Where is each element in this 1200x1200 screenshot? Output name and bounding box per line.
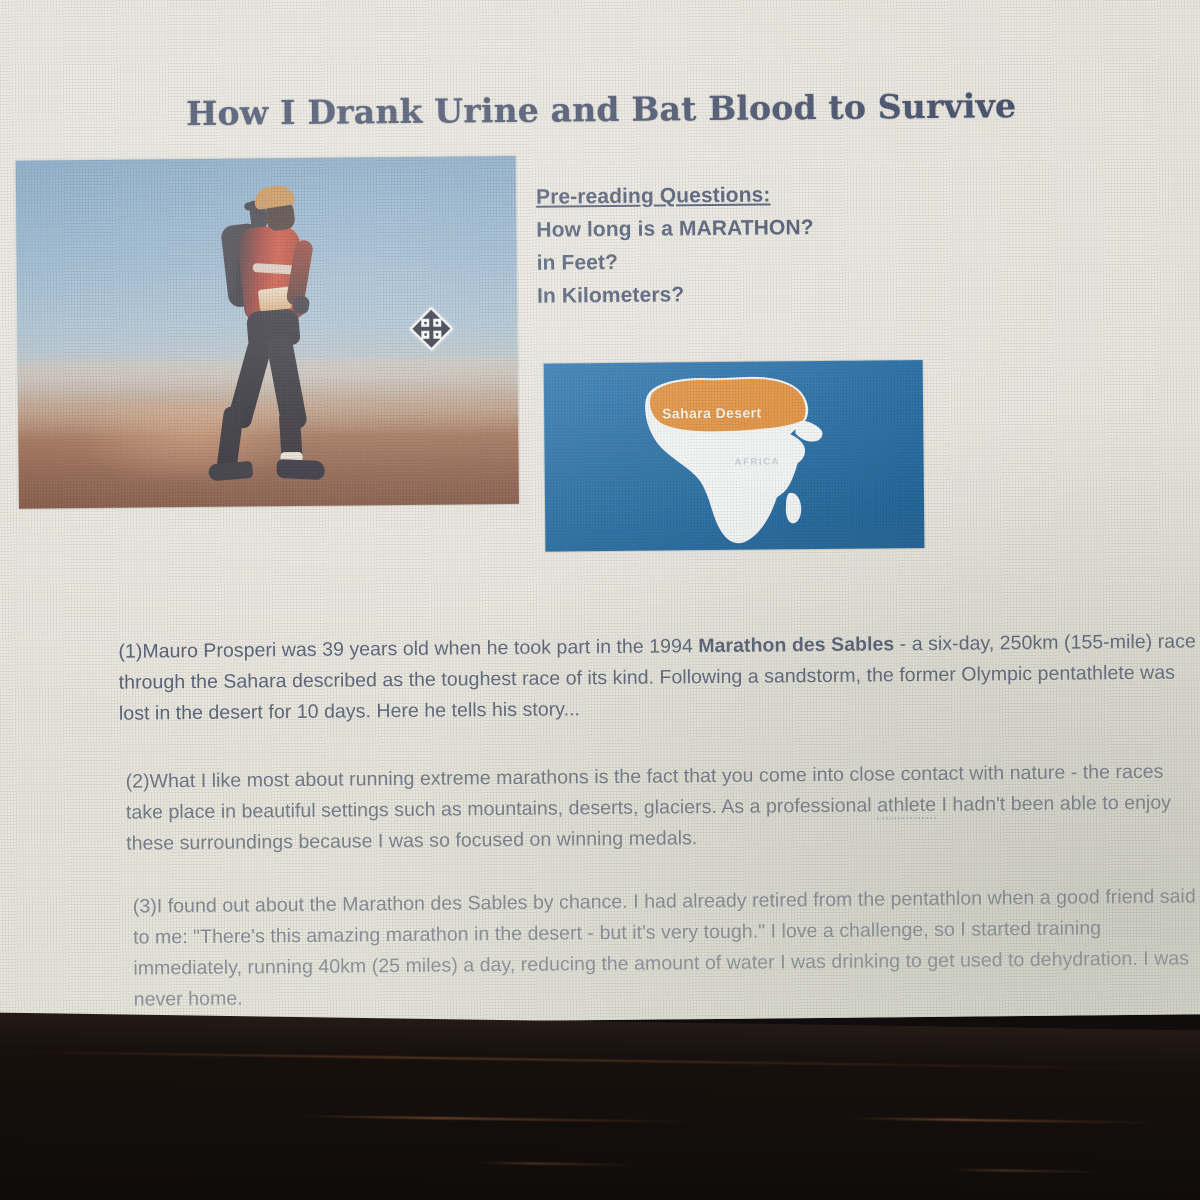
paragraph-2-number: (2)	[126, 770, 150, 792]
paragraph-1-number: (1)	[118, 640, 142, 662]
map-label-africa: AFRICA	[735, 456, 781, 467]
monitor-bezel	[0, 1012, 1200, 1200]
monitor-photo: How I Drank Urine and Bat Blood to Survi…	[0, 0, 1200, 1200]
paragraph-3-text: I found out about the Marathon des Sable…	[133, 885, 1196, 1010]
prereading-question-1: How long is a MARATHON?	[536, 210, 966, 247]
paragraph-2: (2)What I like most about running extrem…	[125, 756, 1198, 859]
prereading-question-3: In Kilometers?	[537, 276, 967, 313]
bezel-reflection	[948, 1169, 1108, 1173]
bezel-reflection	[0, 1051, 1179, 1071]
paragraph-3-number: (3)	[133, 895, 157, 917]
monitor-screen: How I Drank Urine and Bat Blood to Survi…	[0, 0, 1200, 1026]
paragraph-1-bold-term: Marathon des Sables	[698, 633, 894, 657]
bezel-reflection	[298, 1115, 698, 1123]
prereading-questions: Pre-reading Questions: How long is a MAR…	[536, 177, 967, 313]
africa-map-image[interactable]: Sahara Desert AFRICA	[544, 360, 925, 552]
prereading-question-2: in Feet?	[537, 243, 967, 280]
bezel-reflection	[478, 1162, 638, 1166]
page-title: How I Drank Urine and Bat Blood to Survi…	[1, 84, 1200, 135]
paragraph-3: (3)I found out about the Marathon des Sa…	[133, 881, 1200, 1015]
spellcheck-misspelled-word[interactable]: athlete	[877, 793, 936, 819]
move-cursor-icon[interactable]	[407, 304, 455, 352]
document-canvas: How I Drank Urine and Bat Blood to Survi…	[0, 0, 1200, 1012]
paragraph-1-text-before: Mauro Prosperi was 39 years old when he …	[142, 635, 698, 662]
bezel-reflection	[849, 1117, 1159, 1124]
prereading-heading: Pre-reading Questions:	[536, 177, 966, 214]
paragraph-1: (1)Mauro Prosperi was 39 years old when …	[118, 626, 1197, 729]
map-label-sahara: Sahara Desert	[662, 405, 762, 422]
athlete-figure	[192, 184, 345, 475]
